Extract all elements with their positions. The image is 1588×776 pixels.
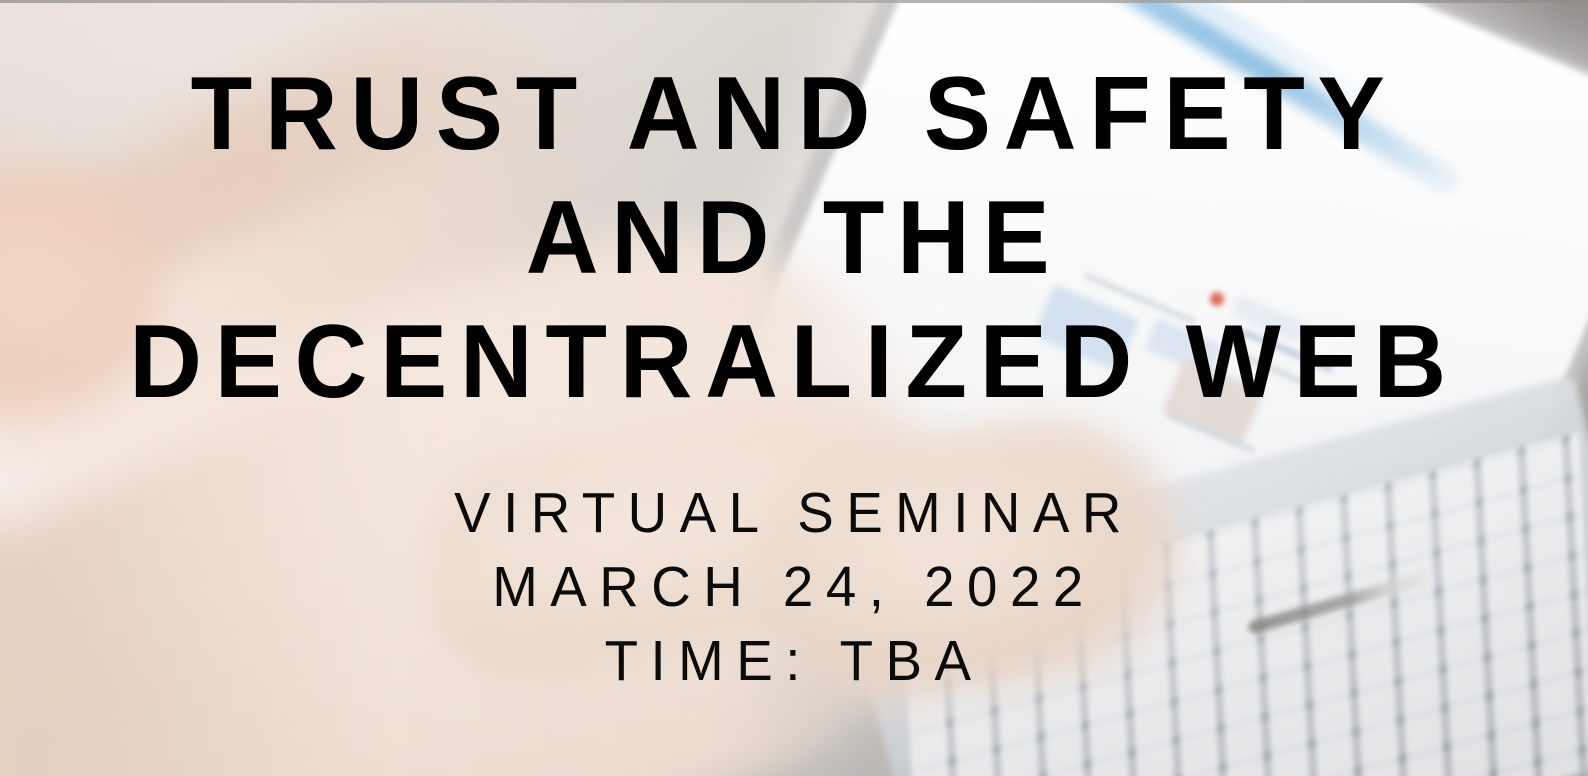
event-title-line-2: AND THE [24, 176, 1564, 300]
event-title: TRUST AND SAFETY AND THE DECENTRALIZED W… [24, 0, 1564, 424]
event-time: TIME: TBA [32, 624, 1556, 698]
event-title-line-3: DECENTRALIZED WEB [24, 300, 1564, 424]
event-format: VIRTUAL SEMINAR [32, 476, 1556, 550]
banner-content: TRUST AND SAFETY AND THE DECENTRALIZED W… [0, 0, 1588, 776]
event-banner: TRUST AND SAFETY AND THE DECENTRALIZED W… [0, 0, 1588, 776]
event-date: MARCH 24, 2022 [32, 550, 1556, 624]
event-title-line-1: TRUST AND SAFETY [24, 52, 1564, 176]
event-details: VIRTUAL SEMINAR MARCH 24, 2022 TIME: TBA [32, 476, 1556, 698]
